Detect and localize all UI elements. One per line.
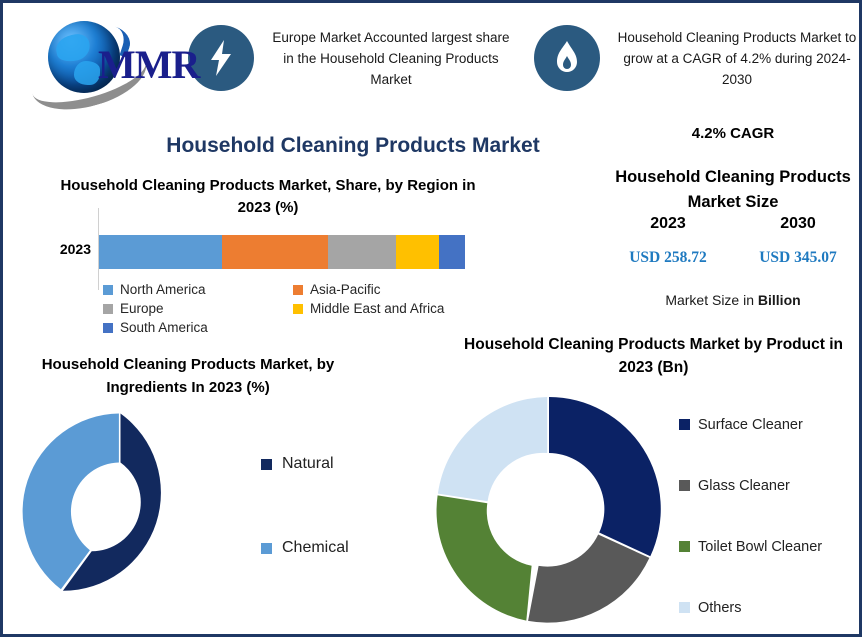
market-size-unit-prefix: Market Size in — [665, 292, 758, 308]
year-forecast: 2030 — [733, 215, 862, 233]
ingredients-donut-chart — [18, 409, 223, 614]
bar-chart-category-label: 2023 — [21, 241, 91, 257]
bar-segment-europe[interactable] — [328, 235, 396, 269]
legend-label-others: Others — [698, 600, 742, 616]
legend-swatch-glass-cleaner — [679, 480, 690, 491]
legend-swatch-others — [679, 602, 690, 613]
legend-label-surface-cleaner: Surface Cleaner — [698, 417, 803, 433]
value-forecast: USD 345.07 — [733, 249, 862, 267]
legend-label-asia-pacific: Asia-Pacific — [310, 282, 381, 297]
bar-segment-south-america[interactable] — [439, 235, 465, 269]
poster-frame: MMR Europe Market Accounted largest shar… — [0, 0, 862, 637]
market-size-years: 2023 2030 — [603, 215, 862, 233]
legend-item-middle-east-and-africa[interactable]: Middle East and Africa — [293, 299, 483, 318]
legend-label-chemical: Chemical — [282, 539, 349, 557]
header-highlight-2: Household Cleaning Products Market to gr… — [534, 25, 862, 91]
year-base: 2023 — [603, 215, 733, 233]
legend-item-natural[interactable]: Natural — [261, 455, 421, 473]
bar-segment-asia-pacific[interactable] — [222, 235, 328, 269]
legend-item-others[interactable]: Others — [679, 577, 859, 638]
market-size-unit: Market Size in Billion — [603, 292, 862, 308]
legend-label-glass-cleaner: Glass Cleaner — [698, 478, 790, 494]
legend-label-middle-east-and-africa: Middle East and Africa — [310, 301, 444, 316]
bar-chart-legend: North America Asia-Pacific Europe Middle… — [103, 280, 483, 337]
market-size-unit-bold: Billion — [758, 292, 801, 308]
donut-slice-glass-cleaner[interactable] — [528, 535, 649, 623]
legend-label-north-america: North America — [120, 282, 206, 297]
bar-chart-title: Household Cleaning Products Market, Shar… — [58, 175, 478, 219]
legend-item-europe[interactable]: Europe — [103, 299, 293, 318]
donut-slice-others[interactable] — [438, 397, 547, 501]
legend-swatch-north-america — [103, 285, 113, 295]
legend-swatch-middle-east-and-africa — [293, 304, 303, 314]
legend-label-toilet-bowl-cleaner: Toilet Bowl Cleaner — [698, 539, 822, 555]
product-chart-title: Household Cleaning Products Market by Pr… — [446, 333, 861, 379]
bar-segment-north-america[interactable] — [99, 235, 222, 269]
legend-item-south-america[interactable]: South America — [103, 318, 293, 337]
product-chart-legend: Surface Cleaner Glass Cleaner Toilet Bow… — [679, 394, 859, 638]
market-size-title: Household Cleaning Products Market Size — [603, 165, 862, 215]
market-size-values: USD 258.72 USD 345.07 — [603, 249, 862, 267]
value-base: USD 258.72 — [603, 249, 733, 267]
flame-icon — [534, 25, 600, 91]
legend-item-north-america[interactable]: North America — [103, 280, 293, 299]
legend-swatch-europe — [103, 304, 113, 314]
header-bar: MMR Europe Market Accounted largest shar… — [6, 6, 862, 110]
brand-logo: MMR — [20, 13, 188, 103]
cagr-value: 4.2% CAGR — [603, 125, 862, 142]
legend-label-europe: Europe — [120, 301, 164, 316]
legend-item-asia-pacific[interactable]: Asia-Pacific — [293, 280, 483, 299]
legend-label-south-america: South America — [120, 320, 208, 335]
header-highlight-2-text: Household Cleaning Products Market to gr… — [612, 27, 862, 90]
legend-swatch-toilet-bowl-cleaner — [679, 541, 690, 552]
donut-slice-toilet-bowl-cleaner[interactable] — [437, 495, 532, 620]
legend-swatch-chemical — [261, 543, 272, 554]
legend-swatch-south-america — [103, 323, 113, 333]
stacked-bar — [99, 235, 465, 269]
legend-swatch-natural — [261, 459, 272, 470]
brand-name: MMR — [98, 41, 199, 88]
legend-label-natural: Natural — [282, 455, 334, 473]
legend-item-chemical[interactable]: Chemical — [261, 539, 421, 557]
donut-slice-surface-cleaner[interactable] — [549, 397, 661, 556]
legend-item-toilet-bowl-cleaner[interactable]: Toilet Bowl Cleaner — [679, 516, 859, 577]
legend-item-glass-cleaner[interactable]: Glass Cleaner — [679, 455, 859, 516]
legend-swatch-asia-pacific — [293, 285, 303, 295]
product-donut-chart — [431, 391, 667, 627]
header-highlight-1-text: Europe Market Accounted largest share in… — [266, 27, 516, 90]
ingredients-chart-legend: Natural Chemical — [261, 455, 421, 557]
ingredients-chart-title: Household Cleaning Products Market, by I… — [13, 353, 363, 399]
bar-segment-middle-east-and-africa[interactable] — [396, 235, 439, 269]
legend-swatch-surface-cleaner — [679, 419, 690, 430]
header-highlight-1: Europe Market Accounted largest share in… — [188, 25, 516, 91]
legend-item-surface-cleaner[interactable]: Surface Cleaner — [679, 394, 859, 455]
page-title: Household Cleaning Products Market — [163, 134, 543, 158]
